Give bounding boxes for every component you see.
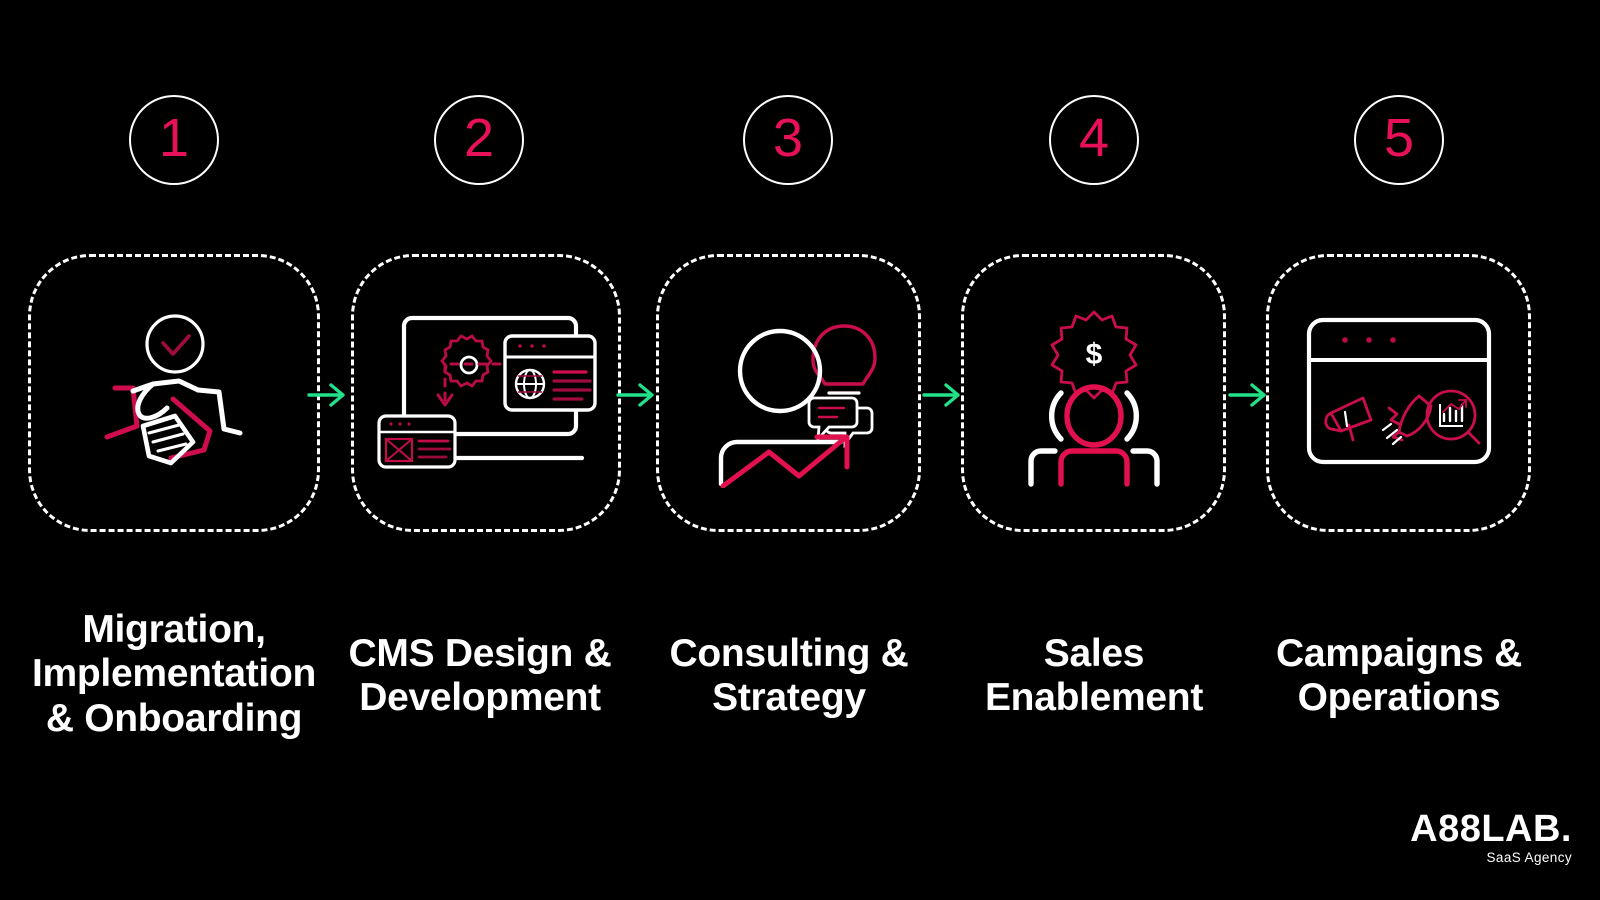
step-label-3-line-2: Strategy: [640, 676, 938, 720]
step-label-5-line-1: Campaigns &: [1250, 632, 1548, 676]
step-number-badge-3: 3: [743, 95, 833, 185]
step-icon-3-wrap: [659, 257, 918, 529]
arrow-right-icon: [1227, 378, 1271, 412]
step-label-3-line-1: Consulting &: [640, 632, 938, 676]
step-label-1-line-2: Implementation: [8, 652, 340, 696]
logo-wordmark: A88LAB.: [1410, 810, 1572, 848]
step-label-5: Campaigns & Operations: [1250, 632, 1548, 721]
step-number-4: 4: [1079, 111, 1109, 165]
step-label-1-line-3: & Onboarding: [8, 697, 340, 741]
brand-logo: A88LAB. SaaS Agency: [1410, 810, 1572, 865]
step-label-3: Consulting & Strategy: [640, 632, 938, 721]
arrow-2-to-3: [615, 378, 659, 417]
arrow-1-to-2: [306, 378, 350, 417]
step-label-2-line-2: Development: [330, 676, 630, 720]
arrow-4-to-5: [1227, 378, 1271, 417]
step-number-5: 5: [1384, 111, 1414, 165]
handshake-check-icon: [79, 298, 269, 488]
step-label-1: Migration, Implementation & Onboarding: [8, 608, 340, 741]
arrow-right-icon: [921, 378, 965, 412]
consulting-lightbulb-growth-icon: [689, 298, 889, 488]
arrow-3-to-4: [921, 378, 965, 417]
step-number-badge-1: 1: [129, 95, 219, 185]
svg-text:$: $: [1085, 338, 1102, 371]
arrow-right-icon: [615, 378, 659, 412]
arrow-right-icon: [306, 378, 350, 412]
process-diagram-canvas: 1 2 3 4 5: [0, 0, 1600, 900]
step-icon-5-wrap: [1269, 257, 1528, 529]
step-icon-1-wrap: [31, 257, 317, 529]
step-card-2[interactable]: [351, 254, 621, 532]
step-label-4-line-2: Enablement: [945, 676, 1243, 720]
step-label-2: CMS Design & Development: [330, 632, 630, 721]
cms-laptop-windows-gear-icon: [372, 298, 600, 488]
step-label-4-line-1: Sales: [945, 632, 1243, 676]
step-number-badge-5: 5: [1354, 95, 1444, 185]
step-card-3[interactable]: [656, 254, 921, 532]
step-card-5[interactable]: [1266, 254, 1531, 532]
step-label-2-line-1: CMS Design &: [330, 632, 630, 676]
step-card-1[interactable]: [28, 254, 320, 532]
sales-person-dollar-badge-icon: $: [999, 298, 1189, 488]
step-number-2: 2: [464, 111, 494, 165]
step-number-badge-4: 4: [1049, 95, 1139, 185]
step-number-badge-2: 2: [434, 95, 524, 185]
step-number-1: 1: [159, 111, 189, 165]
step-label-5-line-2: Operations: [1250, 676, 1548, 720]
campaigns-browser-megaphone-rocket-icon: [1301, 308, 1497, 478]
step-icon-4-wrap: $: [964, 257, 1223, 529]
step-label-4: Sales Enablement: [945, 632, 1243, 721]
step-icon-2-wrap: [354, 257, 618, 529]
step-label-1-line-1: Migration,: [8, 608, 340, 652]
logo-tagline: SaaS Agency: [1410, 851, 1572, 865]
step-number-3: 3: [773, 111, 803, 165]
step-card-4[interactable]: $: [961, 254, 1226, 532]
